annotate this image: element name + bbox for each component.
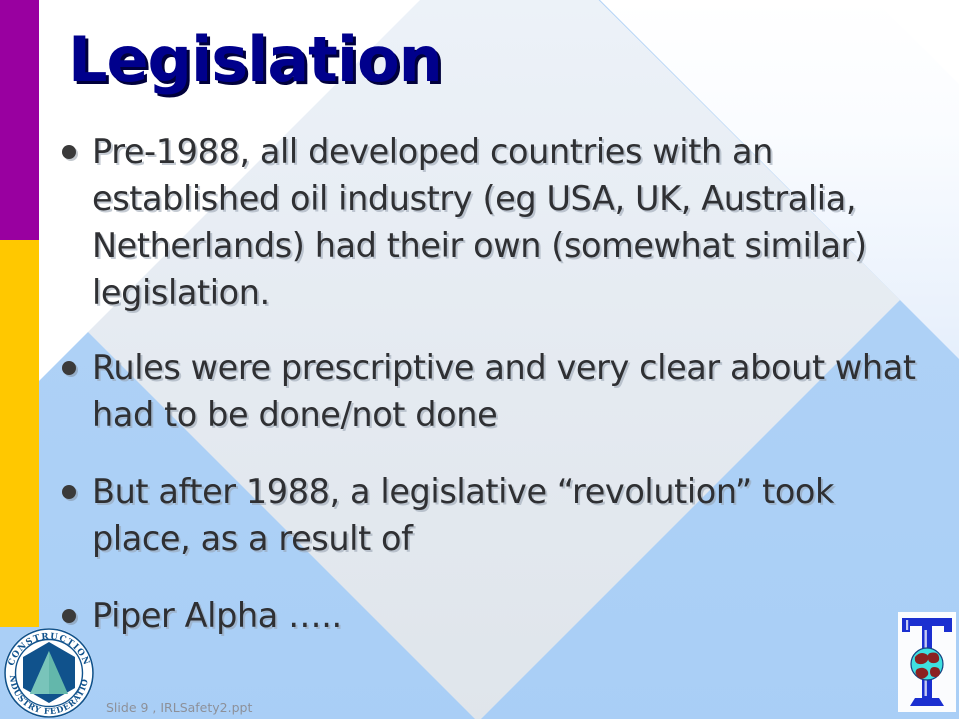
bullet-item: Rules were prescriptive and very clear a… — [62, 344, 922, 438]
bullet-dot-icon — [62, 145, 76, 159]
slide-footer-note: Slide 9 , IRLSafety2.ppt — [106, 700, 252, 715]
left-accent-bar — [0, 0, 39, 719]
corner-wedge-top-right — [875, 0, 959, 84]
accent-bar-yellow-segment — [0, 240, 39, 627]
bullet-dot-icon — [62, 361, 76, 375]
bullet-text: Pre-1988, all developed countries with a… — [92, 128, 922, 316]
presentation-slide: Legislation Pre-1988, all developed coun… — [0, 0, 959, 719]
bullet-text: Rules were prescriptive and very clear a… — [92, 344, 922, 438]
slide-title: Legislation — [68, 27, 442, 92]
tecnet-t-globe-logo — [898, 612, 956, 712]
bullet-text: But after 1988, a legislative “revolutio… — [92, 468, 922, 562]
construction-industry-federation-logo: CONSTRUCTION INDUSTRY FEDERATION — [2, 626, 96, 719]
bullet-item: Piper Alpha ….. — [62, 592, 922, 639]
bullet-text: Piper Alpha ….. — [92, 592, 922, 639]
accent-bar-purple-segment — [0, 0, 39, 240]
bullet-dot-icon — [62, 485, 76, 499]
bullet-dot-icon — [62, 609, 76, 623]
bullet-item: But after 1988, a legislative “revolutio… — [62, 468, 922, 562]
bullet-item: Pre-1988, all developed countries with a… — [62, 128, 922, 316]
bullet-list: Pre-1988, all developed countries with a… — [62, 128, 922, 665]
